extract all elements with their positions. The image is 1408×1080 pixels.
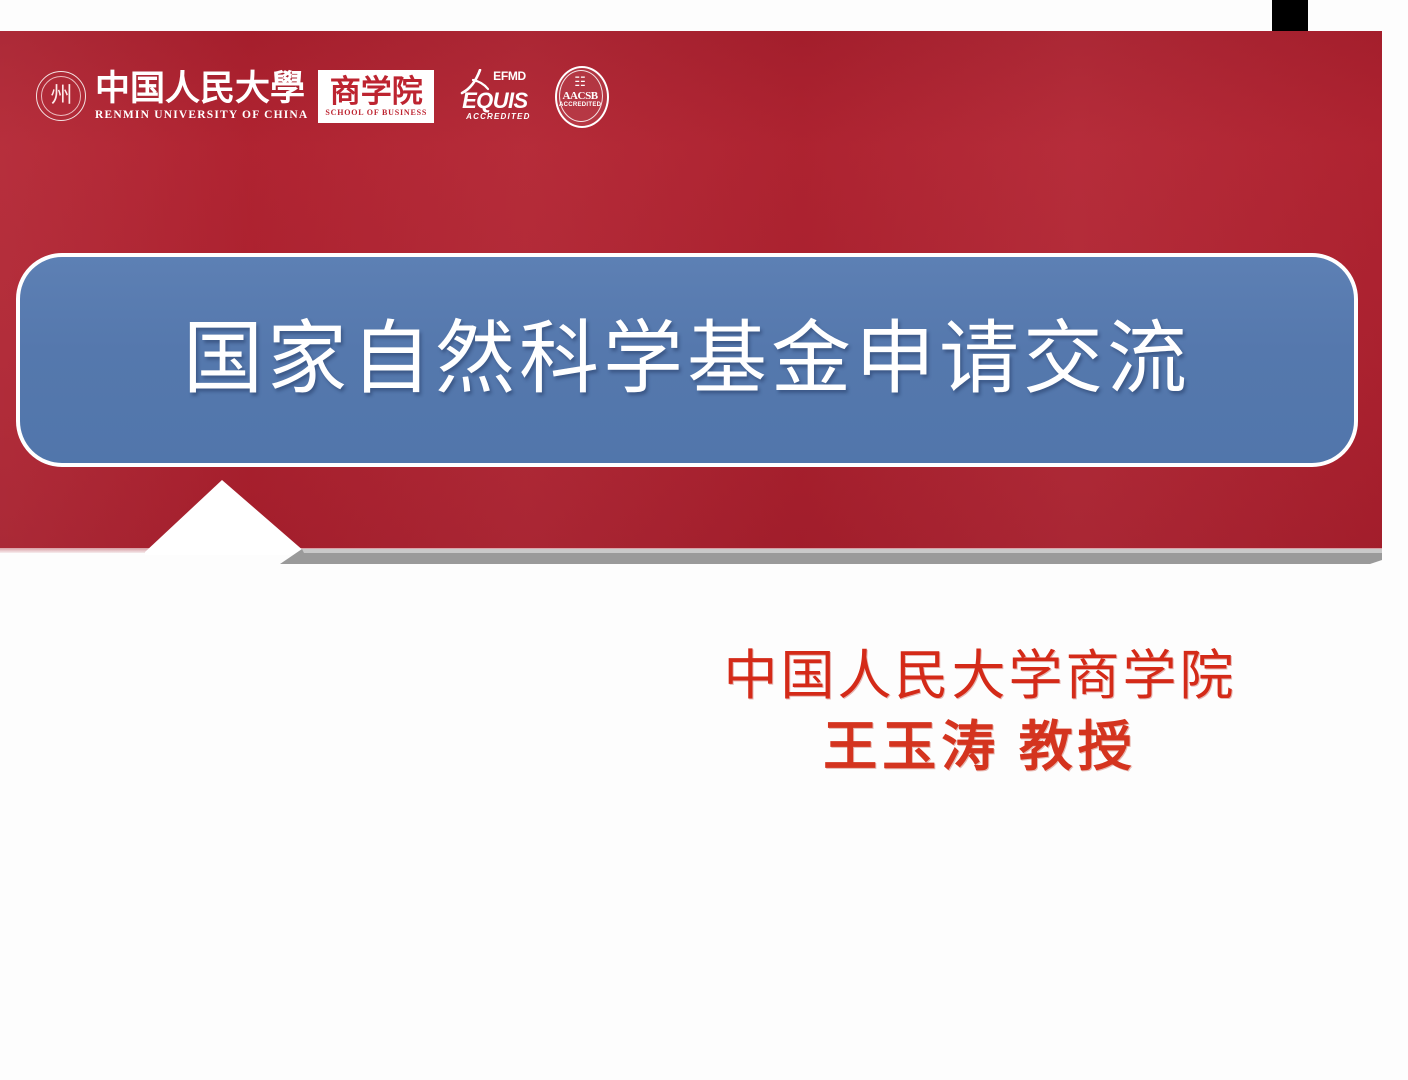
school-of-business-plate: 商学院 SCHOOL OF BUSINESS [318,70,434,123]
efmd-label: EFMD [493,69,526,83]
presenter-block: 中国人民大学商学院 王玉涛 教授 [700,645,1260,781]
aacsb-accredited-label: ACCREDITED [554,102,606,108]
presenter-name-title: 王玉涛 教授 [700,715,1260,781]
university-name-en: RENMIN UNIVERSITY OF CHINA [95,109,308,122]
equis-label: EQUIS [462,88,527,114]
university-name-cn: 中国人民大學 [95,71,308,107]
shadow-bar [280,549,1382,564]
presenter-organization: 中国人民大学商学院 [700,645,1260,709]
slide-canvas: 州 中国人民大學 RENMIN UNIVERSITY OF CHINA 商学院 … [0,0,1408,1080]
institution-logo-row: 州 中国人民大學 RENMIN UNIVERSITY OF CHINA 商学院 … [36,60,606,132]
aacsb-label: AACSB [554,90,606,102]
title-plaque: 国家自然科学基金申请交流 [16,253,1358,467]
chevron-notch [145,480,305,555]
school-name-cn: 商学院 [330,76,423,107]
black-marker-block [1272,0,1308,35]
efmd-equis-logo: EFMD EQUIS ACCREDITED [460,66,532,126]
equis-accredited-label: ACCREDITED [466,112,530,121]
aacsb-pillar-icon: ☷ [574,76,586,89]
ruc-seal-icon: 州 [36,71,86,121]
slide-title: 国家自然科学基金申请交流 [183,320,1191,400]
school-name-en: SCHOOL OF BUSINESS [325,109,427,117]
aacsb-seal-icon: ☷ AACSB ACCREDITED [554,66,606,126]
ruc-seal-glyph: 州 [37,85,85,107]
university-wordmark: 中国人民大學 RENMIN UNIVERSITY OF CHINA [95,71,308,121]
